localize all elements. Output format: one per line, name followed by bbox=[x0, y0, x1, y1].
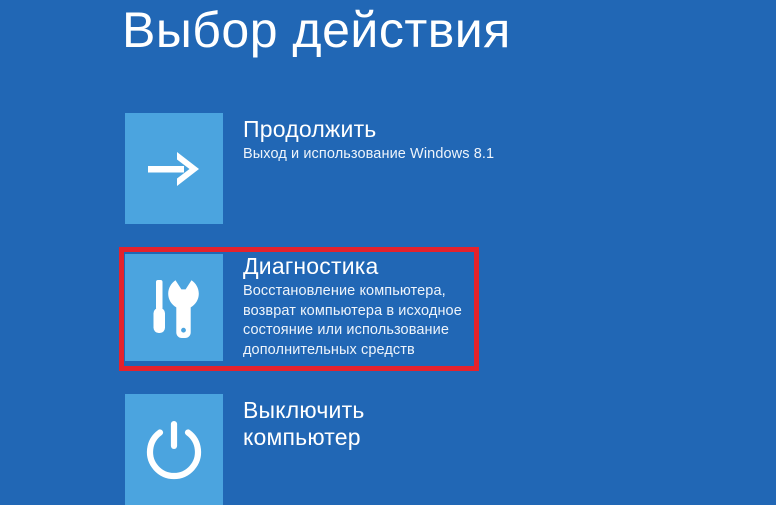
option-shutdown-tile[interactable] bbox=[125, 394, 223, 505]
arrow-right-icon bbox=[146, 147, 202, 191]
option-shutdown-text: Выключить компьютер bbox=[243, 397, 365, 451]
recovery-options-screen: Выбор действия Продолжить Выход и исполь… bbox=[0, 0, 776, 505]
option-continue-description: Выход и использование Windows 8.1 bbox=[243, 145, 494, 165]
option-troubleshoot-description-line: состояние или использование bbox=[243, 321, 462, 341]
option-shutdown-title: Выключить компьютер bbox=[243, 397, 365, 451]
option-troubleshoot-description-line: возврат компьютера в исходное bbox=[243, 302, 462, 322]
option-troubleshoot-text: Диагностика Восстановление компьютера, в… bbox=[243, 253, 462, 360]
power-icon bbox=[143, 419, 205, 481]
option-continue-tile[interactable] bbox=[125, 113, 223, 224]
option-troubleshoot-tile[interactable] bbox=[125, 254, 223, 361]
option-troubleshoot-description-line: Восстановление компьютера, bbox=[243, 282, 462, 302]
option-continue-description-line: Выход и использование Windows 8.1 bbox=[243, 145, 494, 165]
option-troubleshoot-description-line: дополнительных средств bbox=[243, 341, 462, 361]
screwdriver-wrench-icon bbox=[144, 277, 204, 339]
option-continue-text: Продолжить Выход и использование Windows… bbox=[243, 116, 494, 165]
option-troubleshoot-description: Восстановление компьютера, возврат компь… bbox=[243, 282, 462, 360]
option-troubleshoot-title: Диагностика bbox=[243, 253, 462, 280]
option-continue-title: Продолжить bbox=[243, 116, 494, 143]
page-title: Выбор действия bbox=[122, 2, 511, 60]
